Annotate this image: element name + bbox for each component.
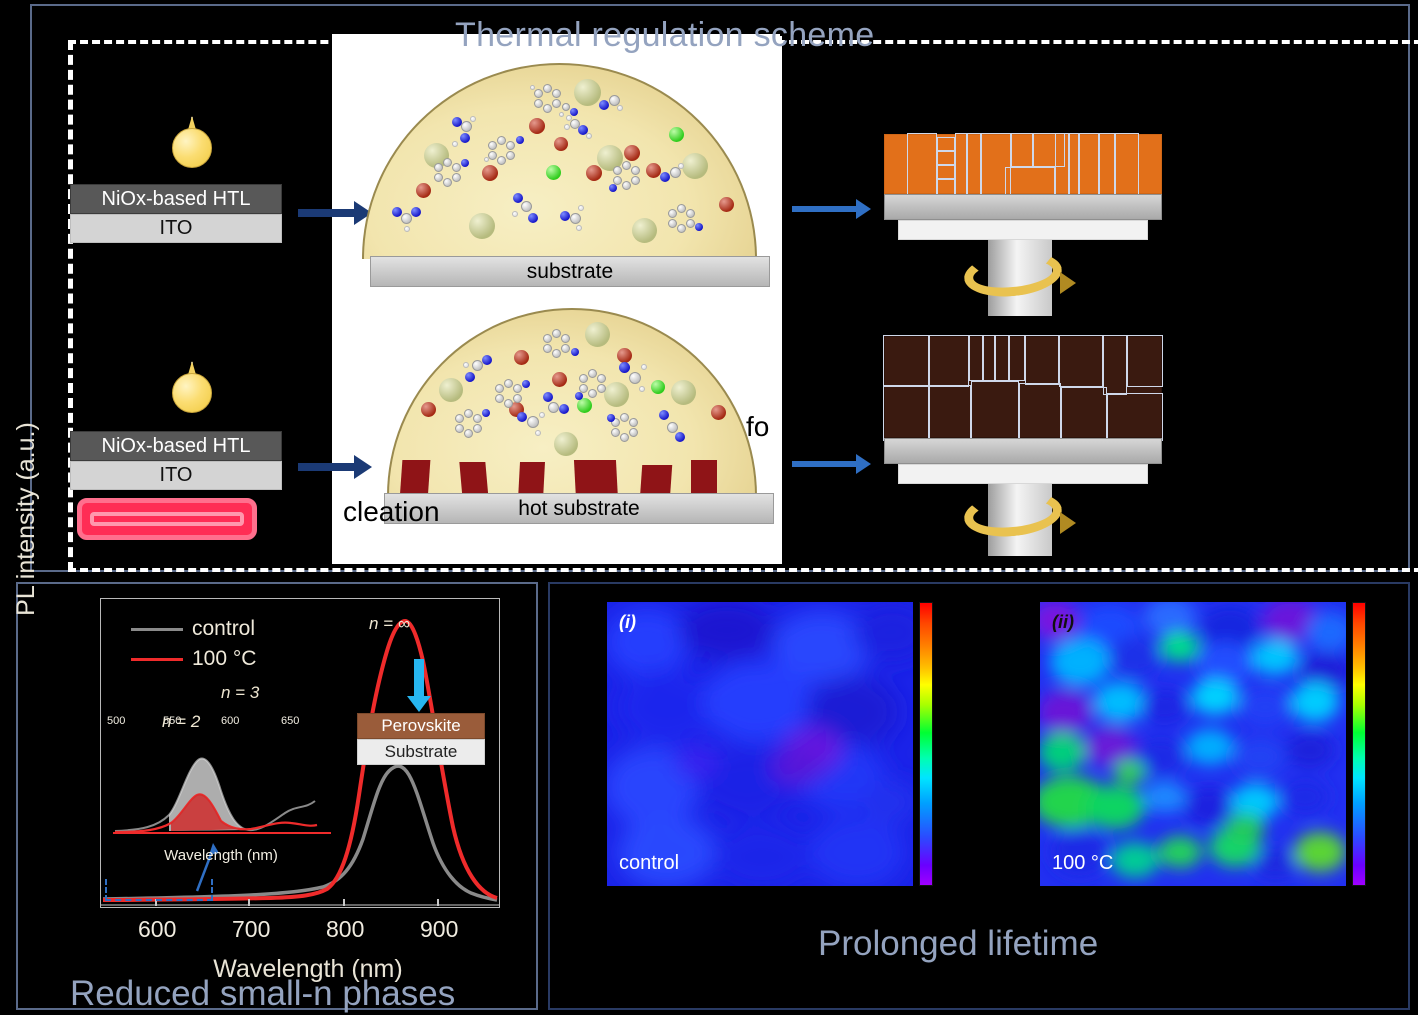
iodide-ion — [514, 350, 529, 365]
chloride-ion — [651, 380, 665, 394]
inset-xtick-650: 650 — [281, 715, 299, 727]
inset-x-axis-label: Wavelength (nm) — [121, 847, 321, 864]
film-substrate-top — [884, 194, 1162, 220]
map-label-100c: 100 °C — [1052, 852, 1113, 875]
cesium-ion — [469, 213, 495, 239]
chloride-ion — [577, 398, 592, 413]
iodide-ion — [416, 183, 431, 198]
rotation-arrow-head-top — [1060, 272, 1076, 294]
clipped-nucleation-text: cleation — [343, 496, 440, 528]
ito-layer-label: ITO — [70, 214, 282, 243]
iodide-ion — [617, 348, 632, 363]
arrow-to-film-bottom — [792, 461, 858, 467]
peak-label-ninf: n = ∞ — [369, 614, 410, 634]
substrate-layer-label: Substrate — [357, 739, 485, 765]
lifetime-map-100c: (ii) 100 °C — [1040, 602, 1346, 886]
legend-swatch-100c — [131, 658, 183, 661]
inset-xtick-500: 500 — [107, 715, 125, 727]
perovskite-pointer-arrow — [414, 659, 424, 697]
peak-label-n3: n = 3 — [221, 683, 259, 703]
chuck-plate-top — [898, 220, 1148, 240]
inset-xtick-600: 600 — [221, 715, 239, 727]
chloride-ion — [669, 127, 684, 142]
iodide-ion — [421, 402, 436, 417]
iodide-ion — [624, 145, 640, 161]
pl-spectrum-panel: PL intensity (a.u.) — [16, 582, 538, 1010]
droplet-bulb — [172, 128, 212, 168]
pl-xtick-900: 900 — [420, 916, 458, 943]
pl-plot-area: control 100 °C n = 2 n = 3 n = ∞ Perovsk… — [100, 598, 500, 908]
spin-coated-film-top — [884, 134, 1174, 324]
cesium-ion — [671, 380, 696, 405]
clipped-formation-text: fo — [746, 411, 769, 443]
cesium-ion — [554, 432, 578, 456]
arrow-to-dome-bottom — [298, 463, 356, 471]
baseline-dashed-brace — [105, 879, 213, 901]
legend-item-control: control — [131, 617, 255, 641]
iodide-ion — [646, 163, 661, 178]
pl-lifetime-maps-panel: (i) control — [548, 582, 1410, 1010]
inset-xtick-550: 550 — [163, 715, 181, 727]
colorbar-control — [919, 602, 933, 886]
pl-y-axis-label: PL intensity (a.u.) — [12, 404, 41, 634]
cesium-ion — [604, 382, 629, 407]
iodide-ion — [586, 165, 602, 181]
cesium-ion — [574, 79, 601, 106]
hotplate-coil — [90, 512, 244, 526]
legend-label-100c: 100 °C — [192, 647, 256, 671]
illustration-backdrop-edge — [777, 36, 782, 564]
chuck-plate-bottom — [898, 464, 1148, 484]
droplet-bulb — [172, 373, 212, 413]
scheme-title: Thermal regulation scheme — [455, 16, 874, 55]
htl-layer-label: NiOx-based HTL — [70, 431, 282, 461]
nucleation-crystal — [518, 462, 545, 496]
perovskite-film-large-grains — [884, 336, 1162, 438]
pl-xtick-700: 700 — [232, 916, 270, 943]
chloride-ion — [546, 165, 561, 180]
lifetime-map-control: (i) control — [607, 602, 913, 886]
cesium-ion — [585, 322, 610, 347]
nucleation-crystal — [459, 462, 488, 496]
map-label-control: control — [619, 852, 679, 875]
iodide-ion — [482, 165, 498, 181]
perovskite-layer-label: Perovskite — [357, 713, 485, 739]
cesium-ion — [632, 218, 657, 243]
map-tag-i: (i) — [619, 612, 636, 633]
iodide-ion — [554, 137, 568, 151]
pl-xtick-600: 600 — [138, 916, 176, 943]
pl-caption: Reduced small-n phases — [70, 974, 455, 1014]
device-stack-top: NiOx-based HTL ITO — [70, 184, 282, 243]
film-substrate-bottom — [884, 438, 1162, 464]
substrate-bar-top: substrate — [370, 256, 770, 287]
colorbar-100c — [1352, 602, 1366, 886]
device-stack-bottom: NiOx-based HTL ITO — [70, 431, 282, 490]
iodide-ion — [719, 197, 734, 212]
maps-caption: Prolonged lifetime — [818, 924, 1098, 964]
spin-coated-film-bottom — [884, 336, 1174, 536]
iodide-ion — [529, 118, 545, 134]
cesium-ion — [439, 378, 463, 402]
cesium-ion — [682, 153, 708, 179]
precursor-droplet-top — [172, 116, 212, 168]
iodide-ion — [711, 405, 726, 420]
pl-xtick-800: 800 — [326, 916, 364, 943]
ito-layer-label: ITO — [70, 461, 282, 490]
legend-swatch-control — [131, 628, 183, 631]
nucleation-crystal — [400, 460, 431, 496]
nucleation-crystal — [640, 465, 672, 496]
legend-item-100c: 100 °C — [131, 647, 256, 671]
arrow-to-dome-top — [298, 209, 356, 217]
rotation-arrow-head-bottom — [1060, 512, 1076, 534]
iodide-ion — [552, 372, 567, 387]
precursor-droplet-bottom — [172, 361, 212, 413]
thermal-regulation-panel: NiOx-based HTL ITO — [30, 4, 1410, 572]
perovskite-substrate-legend: Perovskite Substrate — [357, 713, 485, 765]
substrate-bar-bottom: hot substrate — [384, 493, 774, 524]
perovskite-film-small-grains — [884, 134, 1162, 194]
arrow-to-film-top — [792, 206, 858, 212]
nucleation-crystal — [574, 460, 618, 496]
legend-label-control: control — [192, 617, 255, 641]
htl-layer-label: NiOx-based HTL — [70, 184, 282, 214]
map-tag-ii: (ii) — [1052, 612, 1074, 633]
nucleation-crystal — [691, 460, 717, 496]
hotplate-heater — [77, 498, 257, 540]
